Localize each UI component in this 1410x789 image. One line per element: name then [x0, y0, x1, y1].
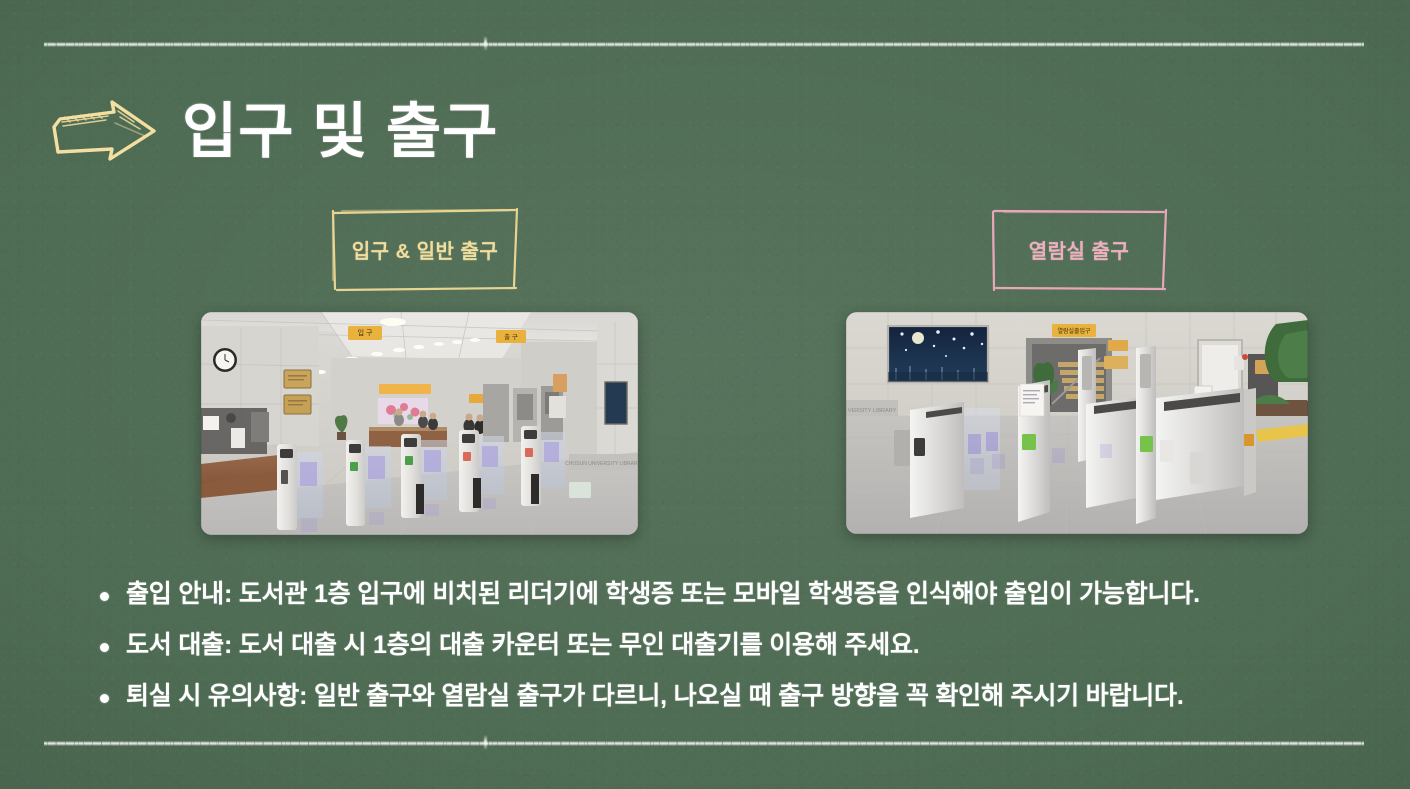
arrow-right-icon	[48, 96, 160, 168]
photo-entrance-lobby: 입 구 출 구	[201, 312, 638, 535]
bullet-dot-icon	[100, 643, 109, 652]
bullet-dot-icon	[100, 694, 109, 703]
bullet-list: 출입 안내: 도서관 1층 입구에 비치된 리더기에 학생증 또는 모바일 학생…	[100, 578, 1350, 731]
bullet-item-exit-notice: 퇴실 시 유의사항: 일반 출구와 열람실 출구가 다르니, 나오실 때 출구 …	[100, 680, 1350, 713]
title-row: 입구 및 출구	[48, 96, 498, 168]
slide-canvas: 입구 및 출구 입구 & 일반 출구	[0, 0, 1410, 789]
page-title: 입구 및 출구	[182, 102, 498, 162]
caption-label-entrance: 입구 & 일반 출구	[352, 235, 499, 264]
svg-text:VERSITY LIBRARY: VERSITY LIBRARY	[848, 408, 897, 414]
bullet-text-exit-notice: 퇴실 시 유의사항: 일반 출구와 열람실 출구가 다르니, 나오실 때 출구 …	[126, 680, 1184, 713]
svg-text:열람실출입구: 열람실출입구	[1057, 327, 1091, 335]
svg-text:입 구: 입 구	[358, 329, 373, 337]
svg-text:CHOSUN UNIVERSITY LIBRARY: CHOSUN UNIVERSITY LIBRARY	[565, 461, 638, 467]
bullet-item-access-guide: 출입 안내: 도서관 1층 입구에 비치된 리더기에 학생증 또는 모바일 학생…	[100, 578, 1350, 611]
bottom-divider-tick	[484, 735, 487, 750]
bullet-text-access-guide: 출입 안내: 도서관 1층 입구에 비치된 리더기에 학생증 또는 모바일 학생…	[126, 578, 1200, 611]
bullet-text-book-loan: 도서 대출: 도서 대출 시 1층의 대출 카운터 또는 무인 대출기를 이용해…	[126, 629, 920, 662]
caption-label-reading-room: 열람실 출구	[1029, 235, 1130, 264]
caption-box-entrance: 입구 & 일반 출구	[330, 206, 520, 292]
photo-reading-room-exit: 열람실출입구	[846, 312, 1308, 534]
bullet-item-book-loan: 도서 대출: 도서 대출 시 1층의 대출 카운터 또는 무인 대출기를 이용해…	[100, 629, 1350, 662]
top-divider-line	[44, 42, 1364, 47]
bullet-dot-icon	[100, 592, 109, 601]
bottom-divider-line	[44, 741, 1364, 746]
top-divider-tick	[484, 36, 487, 51]
svg-text:출 구: 출 구	[504, 332, 518, 341]
caption-box-reading-room: 열람실 출구	[990, 206, 1168, 292]
